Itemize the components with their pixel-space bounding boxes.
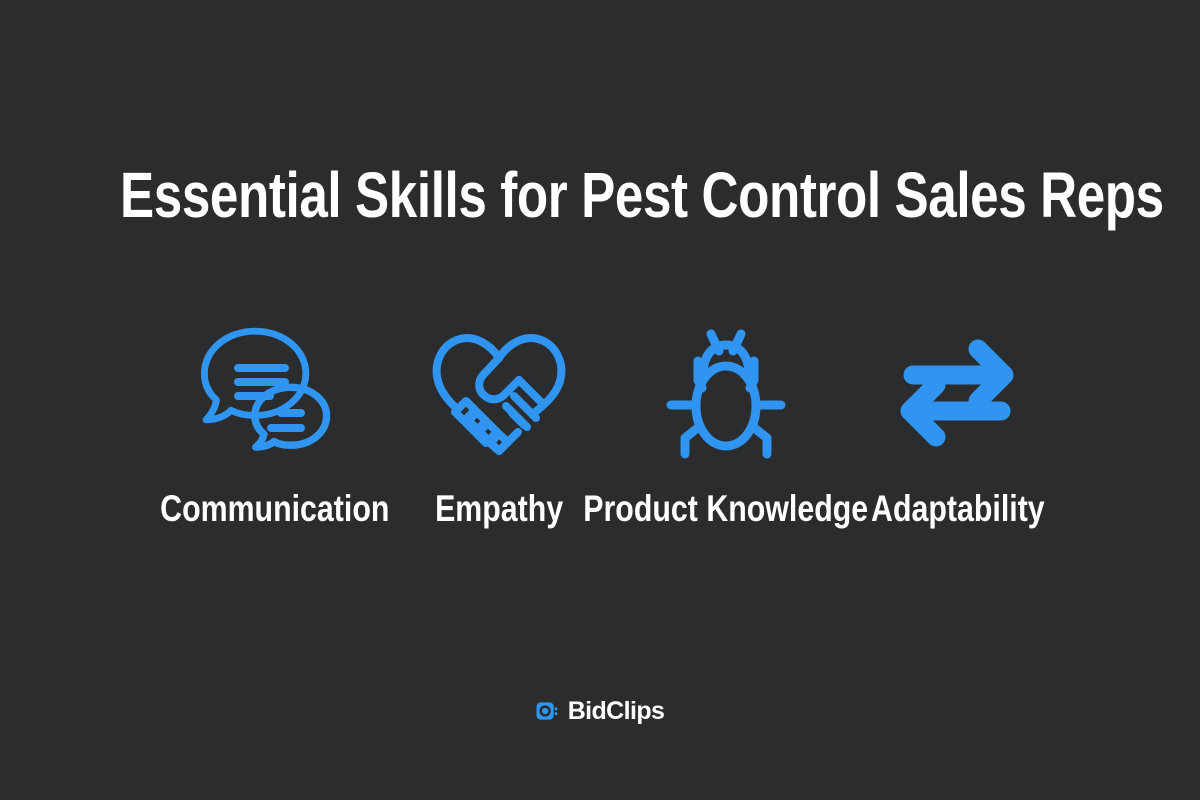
skill-label: Product Knowledge xyxy=(583,490,868,527)
skill-item-product-knowledge: Product Knowledge xyxy=(598,318,853,527)
skill-item-empathy: Empathy xyxy=(412,318,587,527)
skill-item-communication: Communication xyxy=(150,318,400,527)
handshake-heart-icon xyxy=(424,318,574,468)
skill-label: Empathy xyxy=(435,490,563,527)
skill-label: Adaptability xyxy=(871,490,1045,527)
page-title: Essential Skills for Pest Control Sales … xyxy=(120,163,1080,227)
bidclips-logo-icon xyxy=(536,700,559,723)
bug-icon xyxy=(651,318,801,468)
skill-label: Communication xyxy=(160,490,389,527)
speech-bubbles-icon xyxy=(200,318,350,468)
brand-name: BidClips xyxy=(568,699,665,724)
infographic-poster: Essential Skills for Pest Control Sales … xyxy=(0,0,1200,800)
skills-row: Communication xyxy=(150,318,1050,548)
skill-item-adaptability: Adaptability xyxy=(865,318,1050,527)
two-way-arrows-icon xyxy=(882,318,1032,468)
footer-brand: BidClips xyxy=(0,699,1200,724)
